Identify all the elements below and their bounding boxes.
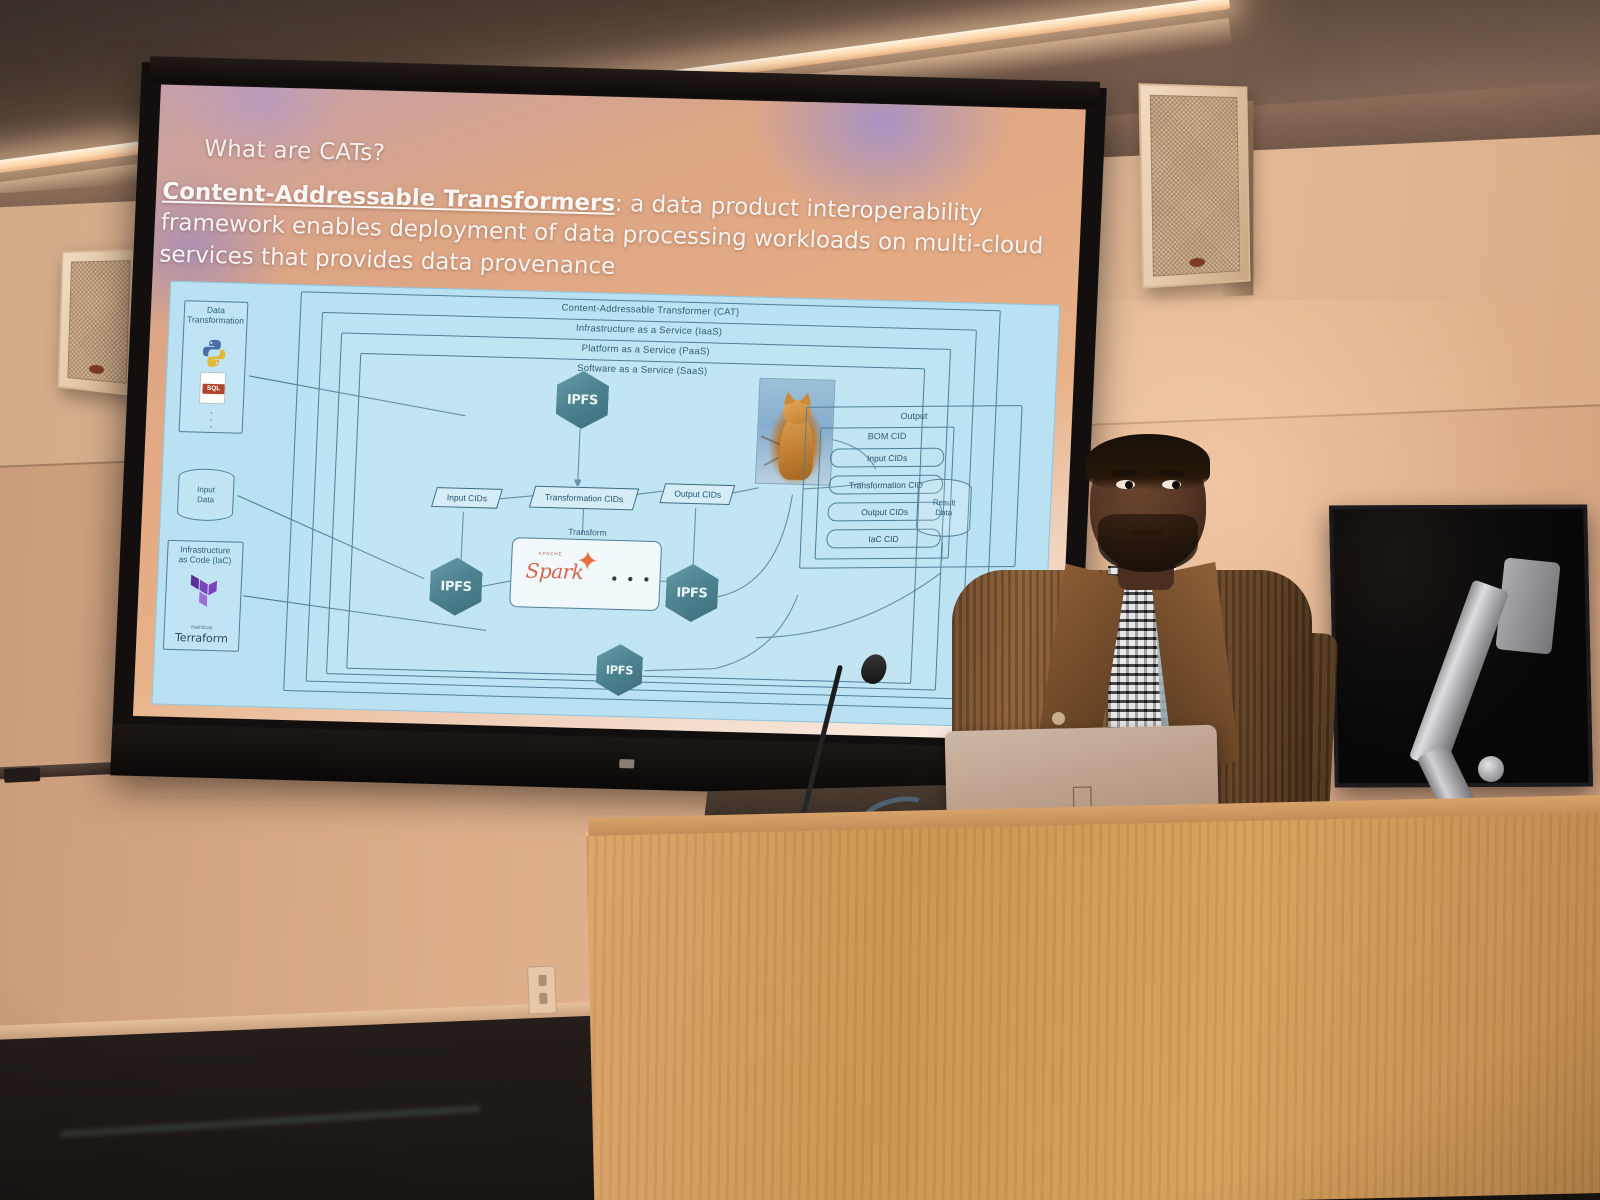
cat-ear-right bbox=[799, 391, 814, 405]
output-cids-node: Output CIDs bbox=[659, 483, 735, 505]
terraform-icon bbox=[186, 573, 222, 612]
bom-item-input-cids: Input CIDs bbox=[830, 448, 945, 468]
data-transformation-box: Data Transformation SQL ··· bbox=[179, 300, 249, 434]
wall-speaker-right bbox=[1138, 83, 1250, 289]
lectern-wood-grain bbox=[586, 813, 1600, 1200]
sql-file-icon: SQL bbox=[199, 372, 226, 405]
presenter-hair bbox=[1086, 434, 1210, 490]
ipfs-label: IPFS bbox=[567, 392, 599, 408]
cat-ear-left bbox=[782, 391, 796, 405]
iac-vendor-small: HashiCorp bbox=[165, 624, 239, 631]
transformation-cids-node: Transformation CIDs bbox=[529, 486, 639, 511]
data-transformation-label: Data Transformation bbox=[184, 305, 247, 326]
input-data-store: Input Data bbox=[177, 468, 235, 521]
iac-box: Infrastructure as Code (IaC) HashiCorp T… bbox=[163, 540, 244, 652]
input-cids-label: Input CIDs bbox=[447, 492, 488, 503]
transform-ellipsis: • • • bbox=[611, 571, 652, 590]
wall-outlet bbox=[527, 965, 557, 1014]
monitor-arm-joint bbox=[1478, 756, 1504, 782]
lecture-hall-scene: What are CATs? Content-Addressable Trans… bbox=[0, 0, 1600, 1200]
input-data-label: Input Data bbox=[178, 485, 233, 506]
data-transformation-ellipsis: ··· bbox=[209, 410, 214, 431]
sql-file-label: SQL bbox=[202, 384, 224, 395]
python-icon bbox=[198, 338, 229, 369]
ipfs-label: IPFS bbox=[440, 579, 472, 595]
iac-vendor-label: Terraform bbox=[164, 631, 239, 646]
wooden-lectern bbox=[586, 813, 1600, 1200]
presenter-eye-right bbox=[1162, 480, 1181, 489]
presenter-jacket-button bbox=[1052, 712, 1065, 725]
monitor-arm-head bbox=[1495, 557, 1560, 654]
tray-object bbox=[4, 767, 41, 783]
presenter-beard bbox=[1098, 514, 1198, 572]
slide-title: What are CATs? bbox=[204, 136, 386, 167]
iac-label: Infrastructure as Code (IaC) bbox=[168, 545, 243, 567]
ipfs-label: IPFS bbox=[605, 663, 633, 678]
presenter-eye-left bbox=[1116, 480, 1135, 489]
transformation-cids-label: Transformation CIDs bbox=[545, 492, 624, 504]
cat-architecture-diagram: Content-Addressable Transformer (CAT) In… bbox=[151, 281, 1060, 729]
screen-bar-knob bbox=[619, 759, 634, 768]
spark-apache-label: APACHE bbox=[538, 551, 562, 557]
speaker-grille-icon bbox=[1150, 95, 1240, 277]
presenter-mouth bbox=[1130, 530, 1164, 535]
output-cids-label: Output CIDs bbox=[674, 488, 721, 499]
spark-star-icon: ✦ bbox=[576, 548, 603, 575]
input-cids-node: Input CIDs bbox=[431, 487, 503, 509]
ipfs-label: IPFS bbox=[676, 585, 708, 601]
transform-box: Transform APACHE Spark ✦ • • • bbox=[509, 537, 662, 611]
slide-body: Content-Addressable Transformers: a data… bbox=[159, 177, 1053, 295]
